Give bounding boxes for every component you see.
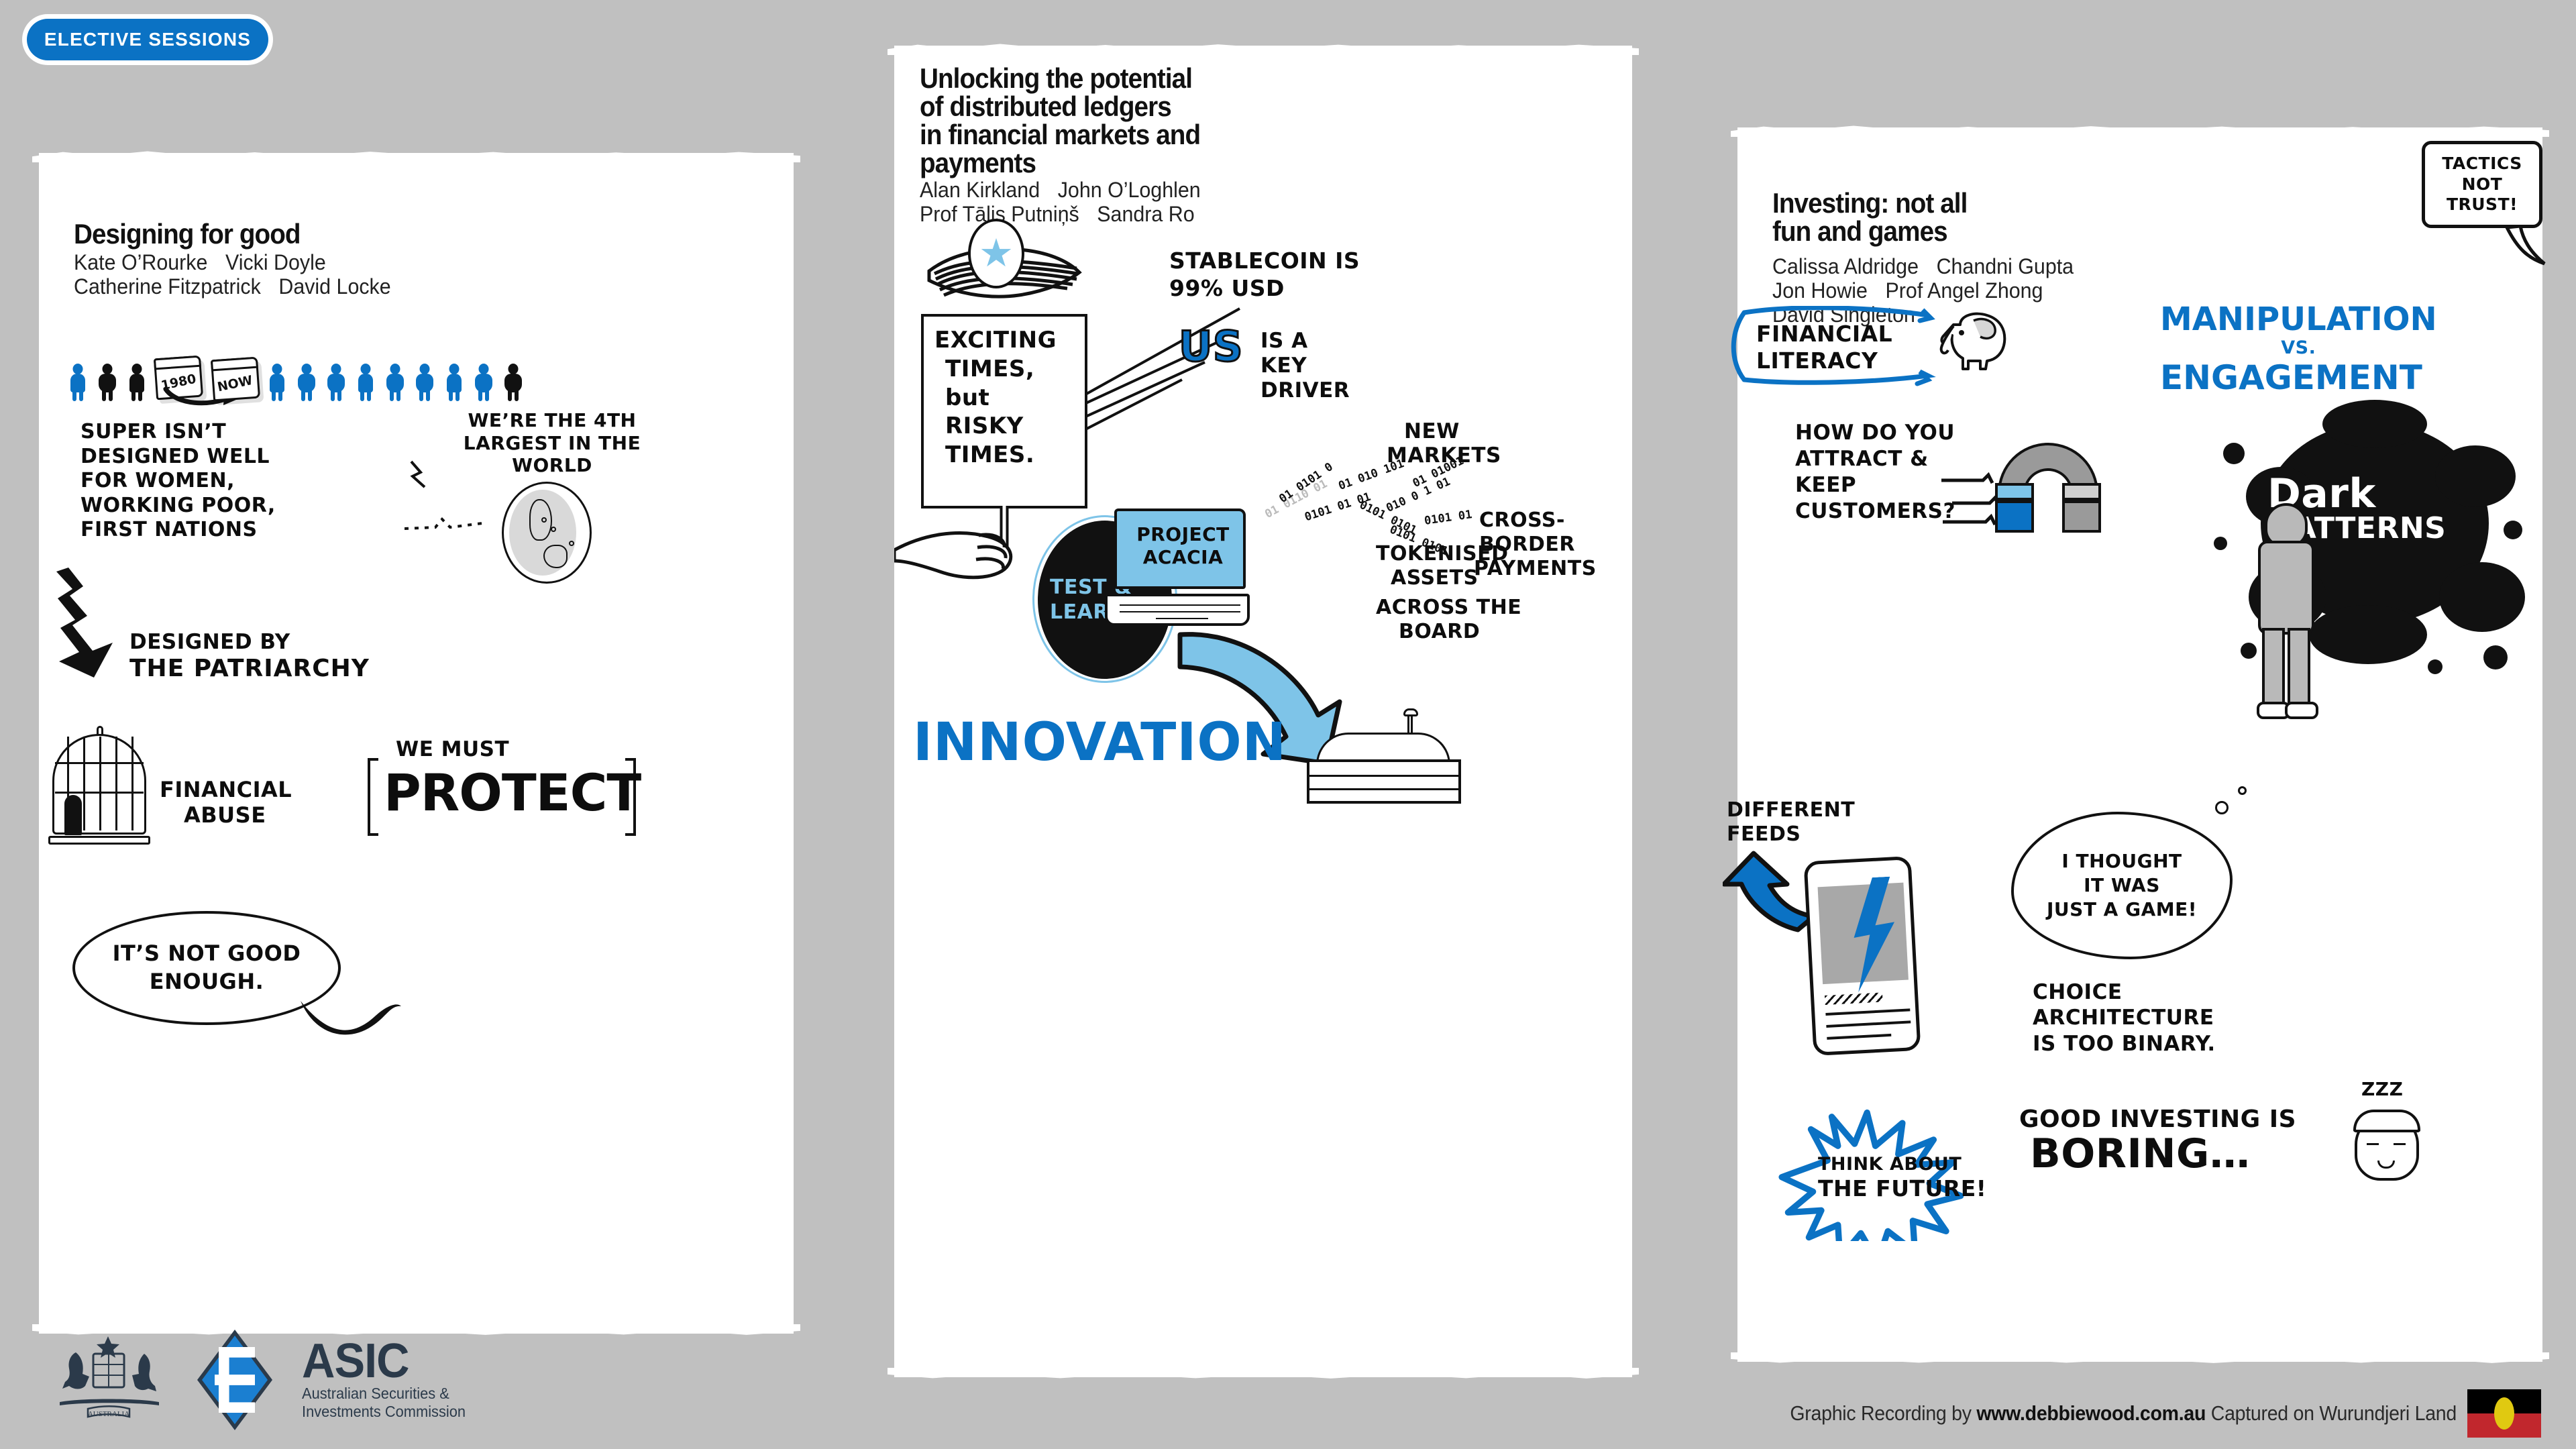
note-line: ENGAGEMENT: [2160, 361, 2437, 394]
note-line: ASSETS: [1376, 566, 1521, 590]
credit-website: www.debbiewood.com.au: [1976, 1401, 2206, 1425]
person-figure: [128, 364, 146, 401]
note-line: TIMES.: [934, 441, 1057, 470]
panel2-title: Unlocking the potential of distributed l…: [920, 64, 1549, 177]
panel3-title: Investing: not all fun and games: [1772, 189, 1967, 246]
note-line: ACACIA: [1128, 546, 1238, 569]
note-new-markets: NEW MARKETS: [1404, 420, 1501, 468]
note-line: DESIGNED by: [129, 631, 370, 655]
panel-distributed-ledgers: Unlocking the potential of distributed l…: [894, 46, 1632, 1377]
note-line: WE MUST: [396, 738, 509, 761]
note-line: vs.: [2160, 338, 2437, 358]
note-line: HOW DO YOU: [1795, 420, 1955, 446]
note-tokenised-assets: TOKENISED ASSETS ACROSS the BOARD: [1376, 542, 1521, 644]
note-line: EXCITING: [934, 326, 1057, 355]
speaker-name: David Locke: [278, 274, 390, 299]
title-line: of distributed ledgers: [920, 93, 1549, 121]
note-innovation: INNOVATION: [913, 716, 1287, 769]
calendar-now-label: NOW: [217, 373, 256, 401]
note-sleep-zzz: zzZ: [2361, 1079, 2403, 1099]
person-figure: [475, 364, 492, 401]
speaker-name: John O’Loghlen: [1058, 178, 1201, 202]
note-line: TRUST!: [2442, 195, 2522, 215]
note-line: RISKY: [934, 412, 1057, 441]
sandbox-icon: [1307, 723, 1461, 804]
thought-dot-icon: [2215, 801, 2229, 814]
note-line: IT WAS: [2047, 873, 2197, 898]
speaker-name: Catherine Fitzpatrick: [74, 274, 261, 299]
person-figure: [99, 364, 116, 401]
panel-investing-fun-and-games: Investing: not all fun and games Calissa…: [1737, 127, 2542, 1362]
sleepy-face-icon: [2355, 1107, 2422, 1187]
note-financial-abuse: FINANCIAL ABUSE: [160, 777, 292, 828]
note-line: IS TOO BINARY.: [2033, 1031, 2216, 1057]
connector-squiggle-icon: [405, 455, 525, 535]
thought-dot-icon: [2238, 786, 2247, 795]
note-us-key-driver: US IS A KEY DRIVER: [1179, 326, 1243, 368]
note-line: PROTECT: [384, 767, 641, 818]
note-line: FOR WOMEN,: [80, 469, 276, 494]
note-line: TOKENISED: [1376, 542, 1521, 566]
note-line: MARKETS: [1387, 444, 1501, 468]
note-line: NOT: [2442, 174, 2522, 195]
note-line: THE FUTURE!: [1818, 1175, 1986, 1202]
blue-up-arrow-icon: [1723, 847, 1817, 934]
birdcage-icon: [52, 727, 146, 845]
note-line: CUSTOMERS?: [1795, 498, 1955, 525]
note-designed-by-patriarchy: DESIGNED by the PATRIARCHY: [129, 631, 370, 683]
person-figure: [327, 364, 345, 401]
person-figure: [386, 364, 404, 401]
person-figure: [504, 364, 522, 401]
callout-tactics-not-trust: TACTICS NOT TRUST!: [2422, 141, 2542, 228]
aboriginal-flag-icon: [2467, 1389, 2541, 1438]
person-figure: [357, 364, 374, 401]
calendar-now-icon: NOW: [211, 357, 260, 402]
note-line: FINANCIAL: [1756, 321, 1892, 347]
note-line: the PATRIARCHY: [129, 655, 370, 683]
speech-bubble-not-good-enough: IT’S NOT GOOD ENOUGH.: [72, 911, 341, 1025]
elective-sessions-label: ELECTIVE SESSIONS: [44, 29, 251, 50]
note-line: IT’S NOT GOOD: [113, 940, 301, 968]
note-line: NEW: [1404, 420, 1501, 444]
magnet-icon: [1998, 443, 2098, 517]
note-line: WORKING POOR,: [80, 494, 276, 519]
thought-bubble-just-a-game: I THOUGHT IT WAS JUST A GAME!: [2011, 812, 2233, 959]
speaker-name: Chandni Gupta: [1937, 254, 2074, 278]
credit-suffix: Captured on Wurundjeri Land: [2206, 1401, 2457, 1425]
note-line: 99% USD: [1169, 274, 1360, 302]
note-line: ENOUGH.: [113, 968, 301, 996]
note-line: STABLECOIN is: [1169, 247, 1360, 274]
note-line: I THOUGHT: [2047, 849, 2197, 873]
speech-tail-icon: [297, 994, 404, 1048]
note-line: DESIGNED WELL: [80, 445, 276, 470]
person-figure: [69, 364, 87, 401]
speaker-name: Calissa Aldridge: [1772, 254, 1919, 278]
star-coin-icon: ★: [968, 219, 1024, 288]
note-line: THINK ABOUT: [1818, 1154, 1986, 1175]
title-line: payments: [920, 149, 1549, 177]
note-line: ACROSS the: [1376, 596, 1521, 620]
note-think-about-future: THINK ABOUT THE FUTURE!: [1818, 1154, 1986, 1202]
note-line: US: [1179, 322, 1243, 371]
note-line: but: [934, 384, 1057, 413]
note-line: FINANCIAL: [160, 777, 292, 802]
speaker-name: Sandra Ro: [1097, 202, 1194, 226]
note-line: LITERACY: [1756, 347, 1892, 374]
panel-designing-for-good: Designing for good Kate O’RourkeVicki Do…: [39, 153, 794, 1334]
note-attract-keep-customers: HOW DO YOU ATTRACT & KEEP CUSTOMERS?: [1795, 420, 1955, 525]
protest-sign-exciting-risky: EXCITING TIMES, but RISKY TIMES.: [921, 314, 1087, 508]
note-line: IS A KEY: [1260, 329, 1350, 378]
note-different-feeds: DIFFERENT FEEDS: [1727, 798, 1855, 847]
graphic-recording-canvas: ELECTIVE SESSIONS Designing for good Kat…: [0, 0, 2576, 1449]
title-line: Unlocking the potential: [920, 64, 1549, 93]
credit-text: Graphic Recording by www.debbiewood.com.…: [1790, 1401, 2457, 1426]
title-line: in financial markets and: [920, 121, 1549, 149]
title-line: Investing: not all: [1772, 189, 1967, 217]
callout-tail-icon: [2503, 225, 2563, 272]
note-line: PROJECT: [1128, 523, 1238, 546]
note-line: FEEDS: [1727, 822, 1855, 847]
note-line: WE’RE the 4TH: [441, 409, 663, 432]
credit-prefix: Graphic Recording by: [1790, 1401, 1976, 1425]
elective-sessions-badge: ELECTIVE SESSIONS: [27, 19, 268, 60]
note-super-not-designed: SUPER ISN’T DESIGNED WELL FOR WOMEN, WOR…: [80, 420, 276, 543]
panel2-speakers: Alan KirklandJohn O’Loghlen Prof Tālis P…: [920, 178, 1570, 227]
note-line: TIMES,: [934, 355, 1057, 384]
note-line: LARGEST in the: [441, 432, 663, 455]
person-figure: [445, 364, 463, 401]
note-good-investing-boring: Good INVESTING is BORING…: [2019, 1107, 2296, 1175]
phone-illustration: [1804, 856, 1921, 1056]
note-line: MANIPULATION: [2160, 303, 2437, 335]
person-figure: [416, 364, 433, 401]
panel1-speakers: Kate O’RourkeVicki Doyle Catherine Fitzp…: [74, 251, 724, 299]
note-line: FIRST NATIONS: [80, 518, 276, 543]
standing-person-illustration: [2247, 503, 2328, 724]
note-line: DRIVER: [1260, 378, 1350, 403]
note-choice-architecture: CHOICE ARCHITECTURE IS TOO BINARY.: [2033, 979, 2216, 1057]
note-financial-literacy: FINANCIAL LITERACY: [1756, 321, 1892, 374]
note-line: BOARD: [1376, 620, 1521, 644]
note-line: KEEP: [1795, 472, 1955, 498]
note-we-must-protect: WE MUST PROTECT: [368, 743, 636, 851]
person-figure: [268, 364, 286, 401]
speaker-name: Alan Kirkland: [920, 178, 1040, 202]
elephant-icon: [1939, 310, 2012, 372]
speaker-name: Vicki Doyle: [225, 250, 326, 274]
note-line: CHOICE: [2033, 979, 2216, 1005]
panel1-title: Designing for good: [74, 220, 301, 248]
note-line: SUPER ISN’T: [80, 420, 276, 445]
footer-credits: Graphic Recording by www.debbiewood.com.…: [0, 1390, 2576, 1437]
person-figure: [298, 364, 315, 401]
title-line: fun and games: [1772, 217, 1967, 246]
hand-holding-sign-icon: [894, 508, 1035, 589]
note-line: TACTICS: [2442, 154, 2522, 174]
note-line: CROSS-: [1479, 508, 1597, 533]
note-line: JUST A GAME!: [2047, 898, 2197, 922]
speaker-name: Kate O’Rourke: [74, 250, 207, 274]
arrow-down-patriarchy-icon: [52, 563, 133, 684]
note-manipulation-vs-engagement: MANIPULATION vs. ENGAGEMENT: [2160, 303, 2437, 394]
note-line: ABUSE: [160, 802, 292, 828]
note-line: DIFFERENT: [1727, 798, 1855, 822]
note-line: ATTRACT &: [1795, 446, 1955, 472]
note-project-acacia: PROJECT ACACIA: [1128, 523, 1238, 568]
note-line: ARCHITECTURE: [2033, 1005, 2216, 1030]
note-stablecoin-usd: STABLECOIN is 99% USD: [1169, 247, 1360, 303]
speaker-name: Jon Howie: [1772, 278, 1868, 303]
note-line: Good INVESTING is: [2019, 1107, 2296, 1133]
people-row-illustration: 1980 NOW: [69, 361, 753, 401]
asic-abbrev: ASIC: [302, 1338, 466, 1384]
note-line: BORING…: [2030, 1133, 2296, 1175]
speaker-name: Prof Angel Zhong: [1886, 278, 2043, 303]
